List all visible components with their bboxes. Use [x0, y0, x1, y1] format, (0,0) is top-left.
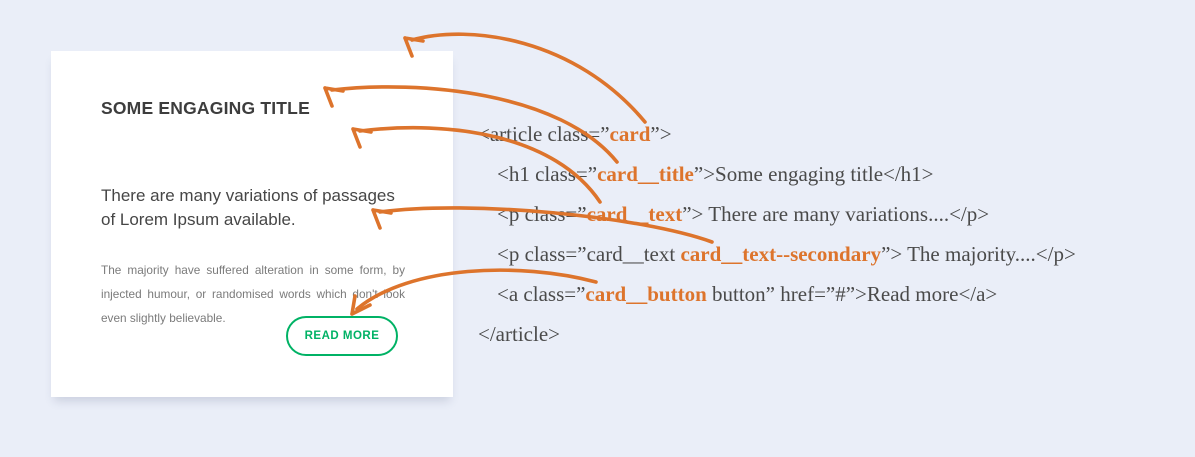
code-line-3: <p class=”card__text”> There are many va…: [497, 202, 989, 226]
code-text: <article class=”: [478, 122, 610, 146]
code-line-6: </article>: [478, 322, 560, 346]
annotated-card-diagram: Some engaging title There are many varia…: [0, 0, 1195, 457]
code-line-5: <a class=”card__button button” href=”#”>…: [497, 282, 997, 306]
card-content: Some engaging title There are many varia…: [101, 51, 405, 397]
code-text: <h1 class=”: [497, 162, 597, 186]
code-class-highlight: card__text: [587, 202, 683, 226]
code-line-1: <article class=”card”>: [478, 122, 672, 146]
code-class-highlight: card: [610, 122, 651, 146]
code-text: ”> The majority....</p>: [881, 242, 1076, 266]
card-text-primary: There are many variations of passages of…: [101, 184, 409, 232]
code-class-highlight: card__text--secondary: [680, 242, 881, 266]
code-text: <p class=”card__text: [497, 242, 680, 266]
code-text: ”> There are many variations....</p>: [682, 202, 989, 226]
code-line-4: <p class=”card__text card__text--seconda…: [497, 242, 1076, 266]
code-text: <a class=”: [497, 282, 585, 306]
code-text: ”>: [650, 122, 671, 146]
code-text: ”>Some engaging title</h1>: [694, 162, 934, 186]
code-text: </article>: [478, 322, 560, 346]
code-text: <p class=”: [497, 202, 587, 226]
card-title: Some engaging title: [101, 98, 310, 119]
code-class-highlight: card__button: [585, 282, 706, 306]
code-text: button” href=”#”>Read more</a>: [707, 282, 998, 306]
card-read-more-button[interactable]: Read more: [286, 316, 398, 356]
code-line-2: <h1 class=”card__title”>Some engaging ti…: [497, 162, 934, 186]
card-container: Some engaging title There are many varia…: [51, 51, 453, 397]
code-class-highlight: card__title: [597, 162, 694, 186]
